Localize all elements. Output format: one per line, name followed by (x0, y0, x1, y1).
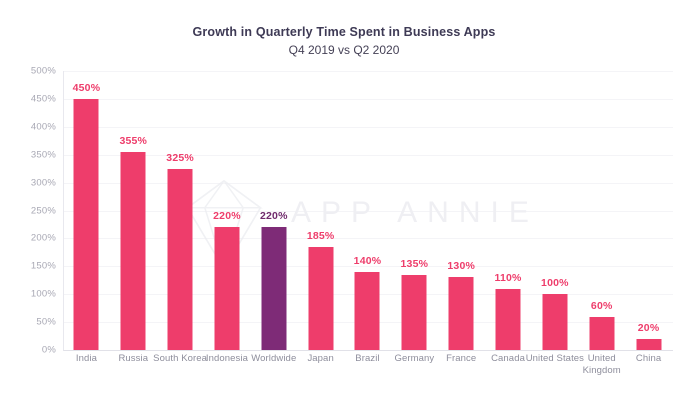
chart-canvas: Growth in Quarterly Time Spent in Busine… (0, 0, 688, 400)
y-axis-tick-label: 350% (31, 149, 56, 160)
bar (74, 99, 99, 350)
bar (449, 277, 474, 350)
bar-value-label: 20% (638, 322, 660, 334)
bar-value-label: 220% (260, 210, 288, 222)
bar-value-label: 220% (213, 210, 241, 222)
bar-value-label: 60% (591, 300, 613, 312)
bar-value-label: 135% (401, 258, 429, 270)
bar-series: 450%355%325%220%220%185%140%135%130%110%… (63, 71, 672, 350)
bar-value-label: 110% (494, 272, 521, 284)
bar-value-label: 185% (307, 230, 335, 242)
y-axis: 500%450%400%350%300%250%200%150%100%50%0… (0, 71, 56, 350)
bar-group: 20% (625, 71, 672, 350)
bar (636, 339, 661, 350)
bar-group: 325% (157, 71, 204, 350)
bar (168, 169, 193, 350)
bar-value-label: 140% (354, 255, 382, 267)
y-axis-tick-label: 300% (31, 177, 56, 188)
y-axis-tick-label: 100% (31, 289, 56, 300)
bar (261, 227, 286, 350)
bar-group: 100% (531, 71, 578, 350)
y-axis-tick-label: 500% (31, 66, 56, 77)
y-axis-tick-label: 150% (31, 261, 56, 272)
bar (121, 152, 146, 350)
bar (214, 227, 239, 350)
bar-group: 135% (391, 71, 438, 350)
bar-group: 220% (250, 71, 297, 350)
bar-group: 140% (344, 71, 391, 350)
bar-group: 355% (110, 71, 157, 350)
bar-group: 130% (438, 71, 485, 350)
bar-value-label: 130% (447, 260, 475, 272)
bar (402, 275, 427, 350)
bar-group: 110% (485, 71, 532, 350)
y-axis-tick-label: 450% (31, 93, 56, 104)
bar-group: 185% (297, 71, 344, 350)
bar-group: 60% (578, 71, 625, 350)
bar-group: 220% (204, 71, 251, 350)
bar-group: 450% (63, 71, 110, 350)
title-block: Growth in Quarterly Time Spent in Busine… (0, 24, 688, 59)
bar (355, 272, 380, 350)
bar (542, 294, 567, 350)
bar-value-label: 100% (541, 277, 569, 289)
y-axis-tick-label: 50% (36, 317, 56, 328)
chart-title: Growth in Quarterly Time Spent in Busine… (0, 24, 688, 40)
bar-value-label: 450% (73, 82, 101, 94)
x-axis: IndiaRussiaSouth KoreaIndonesiaWorldwide… (63, 353, 672, 393)
bar (496, 289, 521, 350)
bar (589, 317, 614, 350)
chart-subtitle: Q4 2019 vs Q2 2020 (0, 42, 688, 59)
y-axis-tick-label: 400% (31, 121, 56, 132)
y-axis-tick-label: 200% (31, 233, 56, 244)
x-axis-tick-label: China (619, 353, 678, 365)
bar-value-label: 325% (166, 152, 194, 164)
bar-value-label: 355% (119, 135, 147, 147)
y-axis-tick-label: 250% (31, 205, 56, 216)
bar (308, 247, 333, 350)
y-axis-tick-label: 0% (42, 345, 56, 356)
